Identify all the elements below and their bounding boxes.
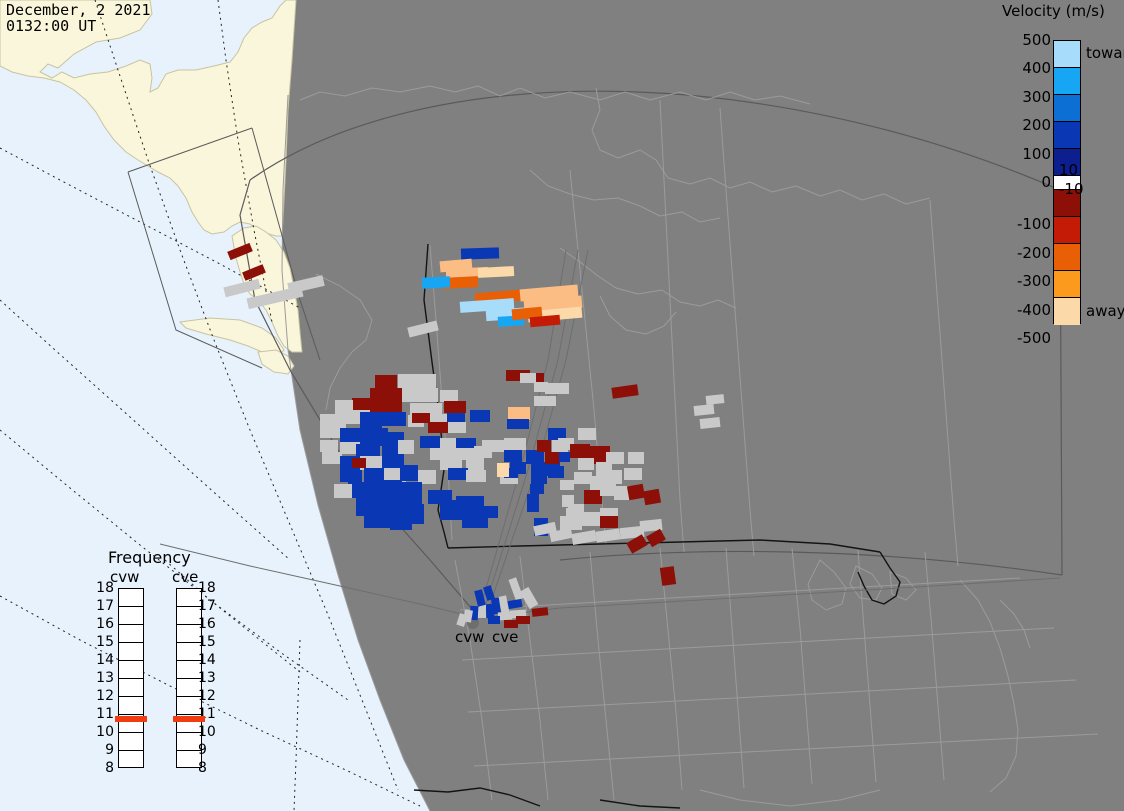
station-label-cve: cve [492, 628, 518, 646]
radar-velocity-map: December, 2 20210132:00 UT Velocity (m/s… [0, 0, 1124, 811]
station-labels: cvwcve [0, 0, 1124, 811]
station-label-cvw: cvw [455, 628, 484, 646]
